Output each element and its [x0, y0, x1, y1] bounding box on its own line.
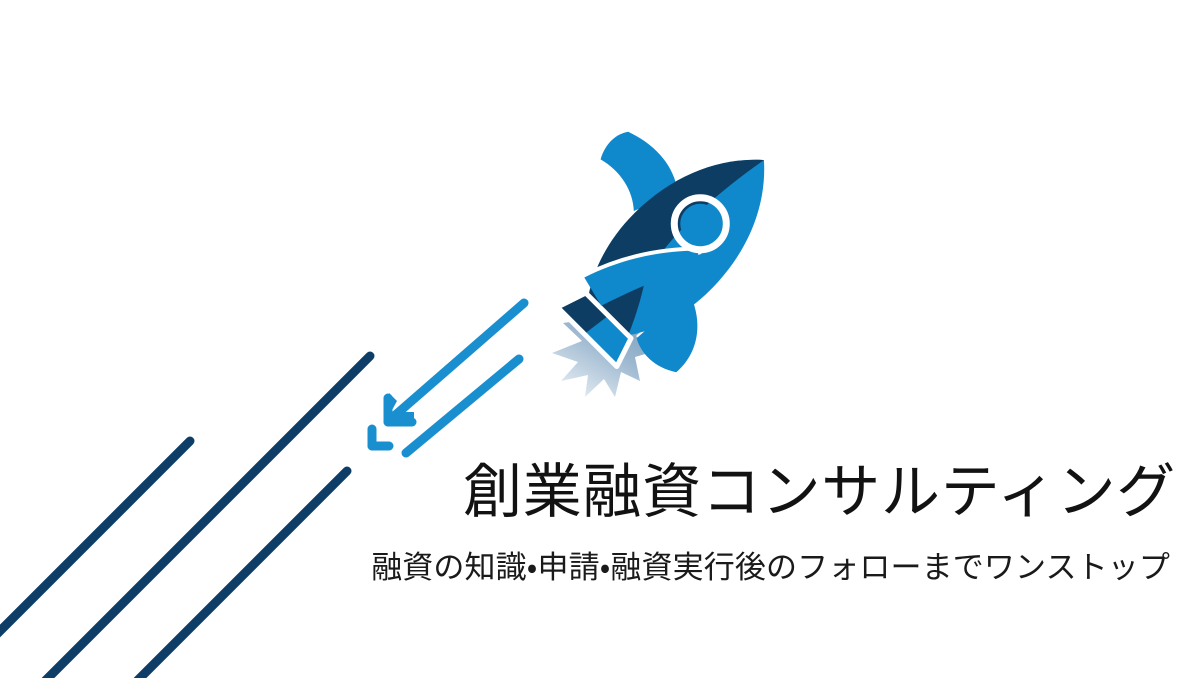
rocket-illustration: [453, 74, 826, 447]
speed-lines-navy: [0, 356, 370, 678]
slide-artwork: [0, 0, 1200, 678]
accent-line-parallel: [406, 359, 519, 453]
presentation-slide: 創業融資コンサルティング 融資の知識・申請・融資実行後のフォローまでワンストップ: [0, 0, 1200, 678]
accent-arrow-group: [392, 303, 524, 453]
corner-bracket-icon: [372, 429, 389, 446]
accent-arrow-shaft: [392, 303, 524, 418]
